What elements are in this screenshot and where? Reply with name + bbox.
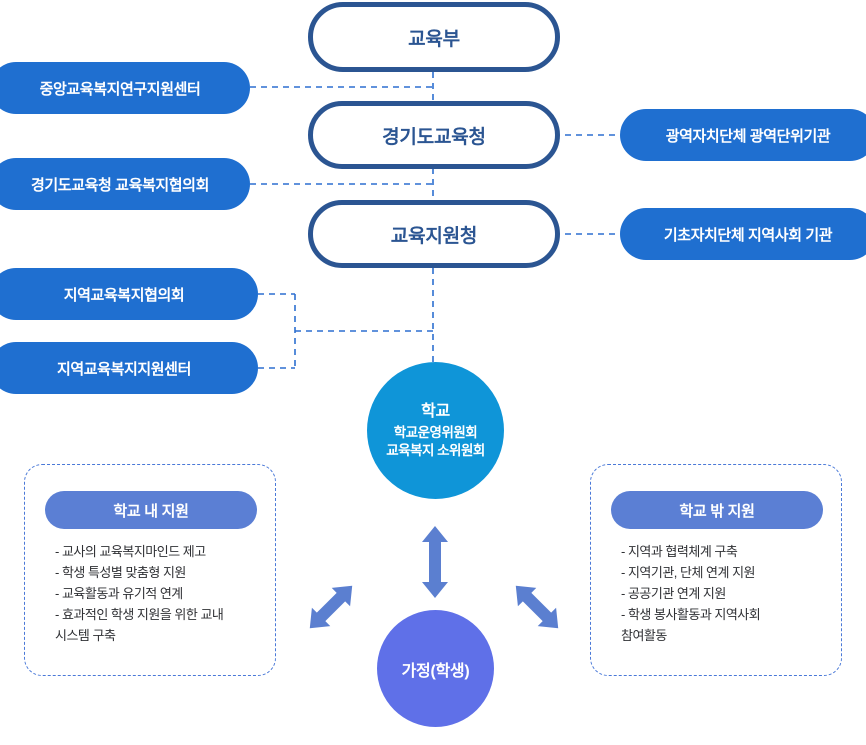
side-box-metropolitan-body-label: 광역자치단체 광역단위기관: [666, 125, 831, 146]
gov-box-district-office[interactable]: 교육지원청: [308, 200, 560, 268]
side-box-basic-body-label: 기초자치단체 지역사회 기관: [664, 224, 832, 245]
support-panel-inside-header[interactable]: 학교 내 지원: [45, 491, 257, 529]
school-circle[interactable]: 학교 학교운영위원회 교육복지 소위원회: [367, 362, 504, 499]
list-item: - 교사의 교육복지마인드 제고: [55, 541, 271, 562]
side-box-central-research-center[interactable]: 중앙교육복지연구지원센터: [0, 62, 250, 114]
support-panel-inside-list: - 교사의 교육복지마인드 제고 - 학생 특성별 맞춤형 지원 - 교육활동과…: [55, 541, 271, 646]
family-circle[interactable]: 가정(학생): [377, 610, 494, 727]
side-box-local-support-center[interactable]: 지역교육복지지원센터: [0, 342, 258, 394]
gov-box-ministry-label: 교육부: [408, 24, 460, 51]
side-box-local-council-label: 지역교육복지협의회: [64, 284, 185, 305]
school-circle-title: 학교: [421, 401, 450, 422]
double-arrow-diagonal-right-icon: [508, 578, 566, 636]
list-item: - 지역과 협력체계 구축: [621, 541, 837, 562]
double-arrow-vertical-icon: [416, 526, 454, 598]
double-arrow-diagonal-left-icon: [302, 578, 360, 636]
list-item: - 지역기관, 단체 연계 지원: [621, 562, 837, 583]
gov-box-provincial-office[interactable]: 경기도교육청: [308, 101, 560, 169]
school-circle-subline-2: 교육복지 소위원회: [386, 442, 485, 460]
gov-box-ministry[interactable]: 교육부: [308, 2, 560, 72]
list-item: - 효과적인 학생 지원을 위한 교내 시스템 구축: [55, 604, 271, 646]
list-item: - 공공기관 연계 지원: [621, 583, 837, 604]
side-box-local-support-center-label: 지역교육복지지원센터: [57, 358, 191, 379]
list-item: - 학생 특성별 맞춤형 지원: [55, 562, 271, 583]
gov-box-district-office-label: 교육지원청: [391, 221, 477, 248]
side-box-basic-body[interactable]: 기초자치단체 지역사회 기관: [620, 208, 866, 260]
support-panel-outside-list: - 지역과 협력체계 구축 - 지역기관, 단체 연계 지원 - 공공기관 연계…: [621, 541, 837, 646]
list-item: - 학생 봉사활동과 지역사회 참여활동: [621, 604, 837, 646]
school-circle-subline-1: 학교운영위원회: [394, 424, 477, 442]
org-diagram: 교육부 경기도교육청 교육지원청 중앙교육복지연구지원센터 경기도교육청 교육복…: [0, 0, 866, 745]
side-box-metropolitan-body[interactable]: 광역자치단체 광역단위기관: [620, 109, 866, 161]
side-box-provincial-council[interactable]: 경기도교육청 교육복지협의회: [0, 158, 250, 210]
side-box-local-council[interactable]: 지역교육복지협의회: [0, 268, 258, 320]
support-panel-outside-header-label: 학교 밖 지원: [679, 500, 754, 521]
list-item: - 교육활동과 유기적 연계: [55, 583, 271, 604]
support-panel-outside-header[interactable]: 학교 밖 지원: [611, 491, 823, 529]
support-panel-inside-header-label: 학교 내 지원: [113, 500, 188, 521]
gov-box-provincial-office-label: 경기도교육청: [382, 122, 486, 149]
family-circle-title: 가정(학생): [402, 657, 470, 681]
side-box-provincial-council-label: 경기도교육청 교육복지협의회: [31, 174, 209, 195]
side-box-central-research-center-label: 중앙교육복지연구지원센터: [40, 78, 201, 99]
